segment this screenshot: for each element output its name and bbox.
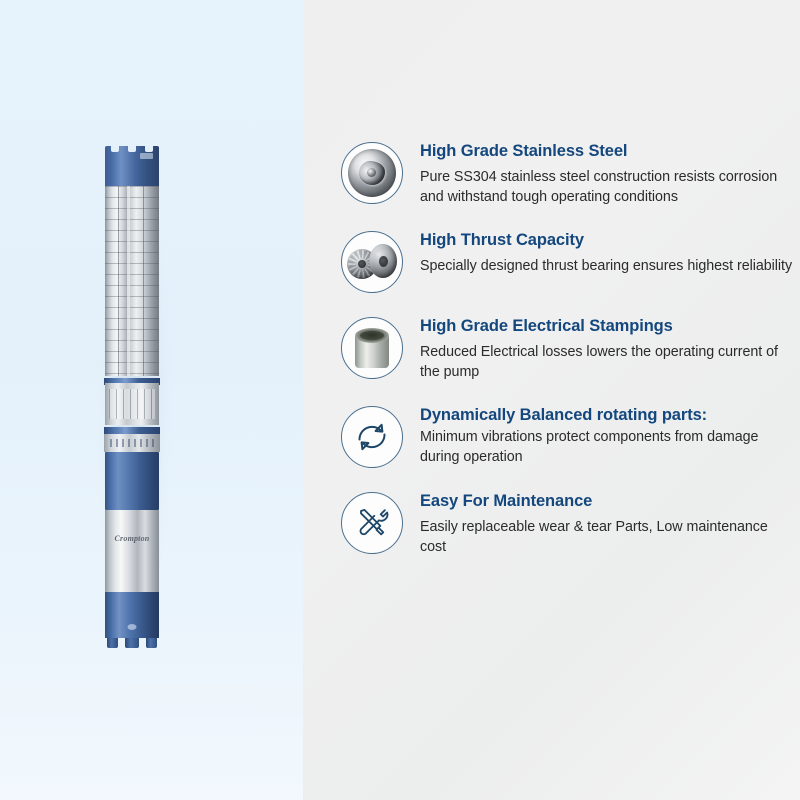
feature-text: High Grade Electrical Stampings Reduced … (420, 315, 794, 382)
pump-blue-ring (104, 427, 160, 434)
stamping-photo-art (355, 328, 389, 368)
rotate-arrows-glyph (352, 417, 392, 457)
feature-item-dynamically-balanced: Dynamically Balanced rotating parts: Min… (341, 404, 794, 468)
pump-base-foot (125, 638, 139, 648)
pump-motor-badge (128, 624, 137, 630)
cap-notch (128, 146, 136, 152)
pump-seam (143, 186, 144, 376)
feature-text: Easy For Maintenance Easily replaceable … (420, 490, 794, 557)
pump-blue-midsection (105, 452, 159, 510)
pump-bottom-motor (105, 592, 159, 638)
pump-top-cap (105, 146, 159, 186)
pump-coupling-marks (110, 439, 154, 447)
wrench-screwdriver-icon (341, 492, 403, 554)
feature-title: High Thrust Capacity (420, 230, 794, 251)
feature-title: Easy For Maintenance (420, 491, 794, 512)
feature-item-stainless-steel: High Grade Stainless Steel Pure SS304 st… (341, 140, 794, 207)
impeller-photo-art (348, 149, 396, 197)
feature-item-thrust-capacity: High Thrust Capacity Specially designed … (341, 229, 794, 293)
pump-seam (118, 186, 119, 376)
feature-list: High Grade Stainless Steel Pure SS304 st… (341, 140, 794, 580)
feature-text: High Thrust Capacity Specially designed … (420, 229, 794, 276)
feature-description: Minimum vibrations protect components fr… (420, 427, 794, 468)
feature-title: High Grade Electrical Stampings (420, 316, 794, 337)
feature-title: Dynamically Balanced rotating parts: (420, 405, 794, 426)
thrust-bearing-icon (341, 231, 403, 293)
feature-text: High Grade Stainless Steel Pure SS304 st… (420, 140, 794, 207)
wrench-screwdriver-glyph (353, 504, 391, 542)
pump-brand-label: Crompton (105, 534, 159, 543)
feature-item-easy-maintenance: Easy For Maintenance Easily replaceable … (341, 490, 794, 557)
product-feature-page: Crompton High Grade Stainless Steel (0, 0, 800, 800)
feature-description: Easily replaceable wear & tear Parts, Lo… (420, 517, 794, 558)
pump-slotted-chamber (105, 383, 159, 425)
pump-stage-stack (105, 186, 159, 376)
cap-notch (145, 146, 153, 152)
electrical-stamping-icon (341, 317, 403, 379)
stainless-impeller-icon (341, 142, 403, 204)
product-image-panel: Crompton (0, 0, 303, 800)
feature-description: Pure SS304 stainless steel construction … (420, 167, 794, 208)
bearing-photo-art (347, 241, 397, 283)
feature-description: Specially designed thrust bearing ensure… (420, 256, 794, 276)
pump-stage-ribs (105, 186, 159, 376)
feature-text: Dynamically Balanced rotating parts: Min… (420, 404, 794, 467)
rotate-arrows-icon (341, 406, 403, 468)
feature-list-panel: High Grade Stainless Steel Pure SS304 st… (303, 0, 800, 800)
submersible-pump-image: Crompton (96, 146, 168, 648)
pump-motor-shell: Crompton (105, 510, 159, 592)
pump-coupling-band (104, 434, 160, 452)
pump-chamber-slots (109, 389, 155, 419)
cap-notch (111, 146, 119, 152)
pump-base-foot (107, 638, 118, 648)
pump-highlight-seam (127, 186, 130, 376)
feature-title: High Grade Stainless Steel (420, 141, 794, 162)
pump-base-foot (146, 638, 157, 648)
feature-item-electrical-stampings: High Grade Electrical Stampings Reduced … (341, 315, 794, 382)
feature-description: Reduced Electrical losses lowers the ope… (420, 342, 794, 383)
